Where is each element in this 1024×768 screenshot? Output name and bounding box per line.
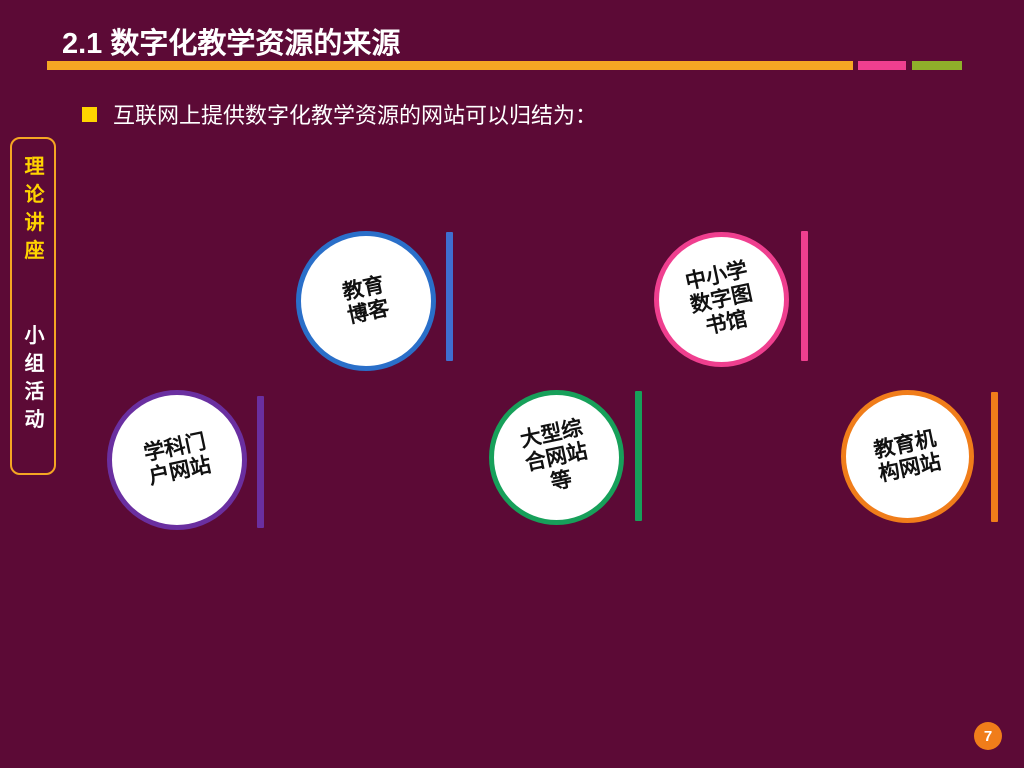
accent-bar-education-blog (446, 232, 453, 361)
side-tab-label-bottom: 小组活动 (12, 322, 58, 434)
bullet-square-icon (82, 107, 97, 122)
bullet-text: 互联网上提供数字化教学资源的网站可以归结为： (113, 98, 597, 130)
accent-bar-education-institution-site (991, 392, 998, 522)
slide-canvas: 2.1 数字化教学资源的来源 互联网上提供数字化教学资源的网站可以归结为： 理论… (0, 0, 1024, 768)
circle-education-institution-site[interactable]: 教育机 构网站 (841, 390, 974, 523)
circle-label-k12-digital-library: 中小学 数字图 书馆 (683, 258, 760, 341)
circle-education-blog[interactable]: 教育 博客 (296, 231, 436, 371)
accent-bar-k12-digital-library (801, 231, 808, 361)
circle-large-comprehensive-site[interactable]: 大型综 合网站 等 (489, 390, 624, 525)
title-rule-green (912, 61, 962, 70)
circle-label-subject-portal: 学科门 户网站 (141, 430, 213, 490)
circle-label-education-blog: 教育 博客 (340, 273, 391, 329)
accent-bar-large-comprehensive-site (635, 391, 642, 521)
title-rule-orange (47, 61, 853, 70)
circle-subject-portal[interactable]: 学科门 户网站 (107, 390, 247, 530)
circle-label-large-comprehensive-site: 大型综 合网站 等 (518, 416, 595, 499)
page-title: 2.1 数字化教学资源的来源 (62, 20, 400, 62)
accent-bar-subject-portal (257, 396, 264, 528)
side-tab-label-top: 理论讲座 (12, 153, 58, 265)
side-tab[interactable]: 理论讲座 小组活动 (10, 137, 56, 475)
page-number-badge: 7 (974, 722, 1002, 750)
bullet-row: 互联网上提供数字化教学资源的网站可以归结为： (82, 98, 597, 130)
title-rule-pink (858, 61, 906, 70)
circle-label-education-institution-site: 教育机 构网站 (872, 427, 944, 487)
circle-k12-digital-library[interactable]: 中小学 数字图 书馆 (654, 232, 789, 367)
